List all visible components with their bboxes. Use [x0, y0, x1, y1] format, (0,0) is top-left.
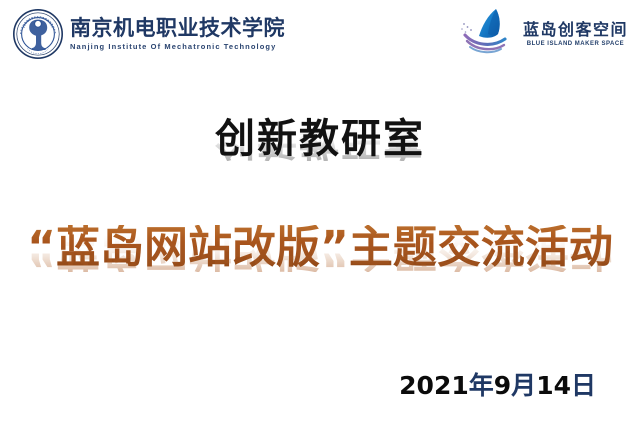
date-day-unit: 日: [571, 371, 596, 400]
slide-date: 2021年9月14日: [399, 366, 596, 402]
maker-space-logo-group: 蓝岛创客空间 BLUE ISLAND MAKER SPACE: [456, 6, 628, 56]
title-line-2-reflection: “蓝岛网站改版”主题交流活动: [0, 226, 640, 272]
blue-island-sailboat-icon: [456, 6, 518, 56]
university-logo-group: 南京机电职业技术学院 Nanjing Institute Of Mechatro…: [12, 8, 285, 60]
title-line-1-reflection: 创新教研室: [0, 119, 640, 161]
date-year-unit: 年: [469, 371, 494, 400]
nanjing-institute-emblem-icon: [12, 8, 64, 60]
title-line-2-wrap: “蓝岛网站改版”主题交流活动 “蓝岛网站改版”主题交流活动: [0, 225, 640, 318]
date-year: 2021: [399, 371, 469, 400]
university-name-cn: 南京机电职业技术学院: [70, 18, 285, 39]
slide-title-block: 创新教研室 创新教研室 “蓝岛网站改版”主题交流活动 “蓝岛网站改版”主题交流活…: [0, 118, 640, 318]
presentation-slide: 南京机电职业技术学院 Nanjing Institute Of Mechatro…: [0, 0, 640, 433]
maker-space-name-block: 蓝岛创客空间 BLUE ISLAND MAKER SPACE: [523, 16, 628, 47]
date-month: 9: [494, 371, 511, 400]
maker-space-name-cn: 蓝岛创客空间: [523, 22, 628, 38]
university-name-block: 南京机电职业技术学院 Nanjing Institute Of Mechatro…: [70, 18, 285, 51]
title-line-1-wrap: 创新教研室 创新教研室: [0, 118, 640, 203]
date-day: 14: [536, 371, 571, 400]
university-name-en: Nanjing Institute Of Mechatronic Technol…: [70, 43, 285, 51]
date-month-unit: 月: [511, 371, 536, 400]
maker-space-name-en: BLUE ISLAND MAKER SPACE: [523, 41, 628, 47]
